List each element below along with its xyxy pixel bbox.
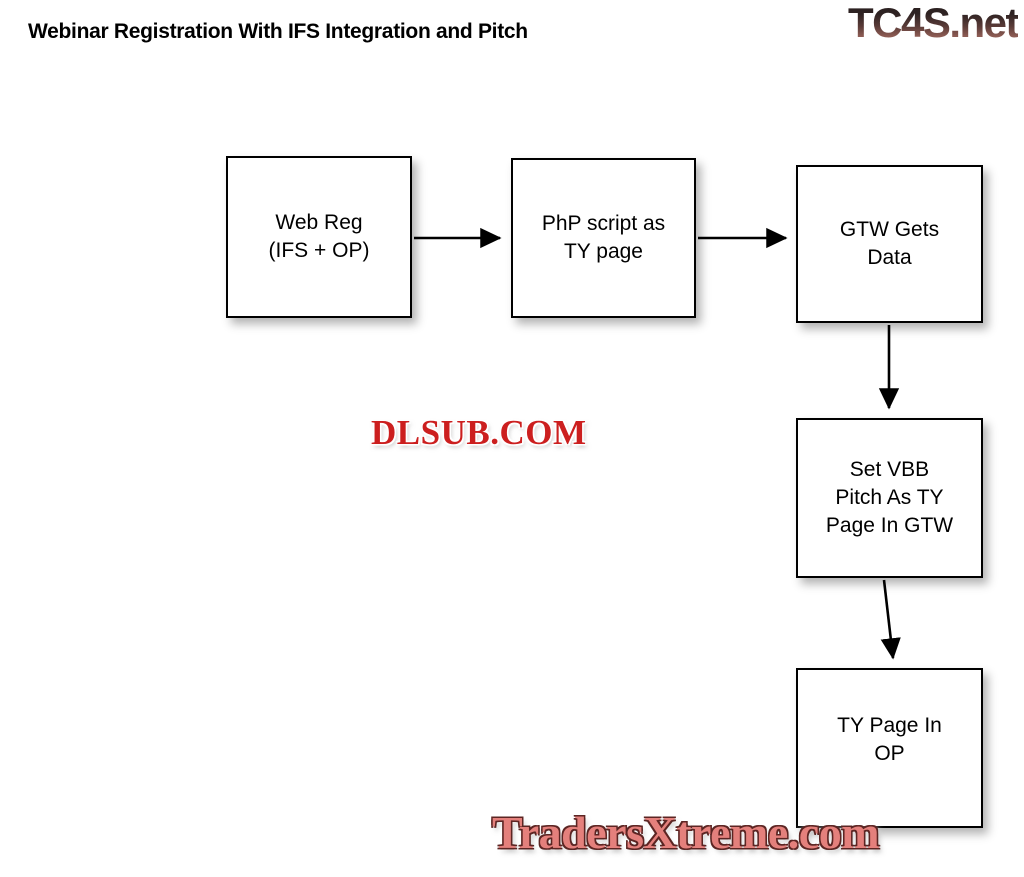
- flow-node-label: Set VBB Pitch As TY Page In GTW: [820, 456, 959, 539]
- flow-node-gtw-gets-data[interactable]: GTW Gets Data: [796, 165, 983, 323]
- flow-node-web-reg[interactable]: Web Reg (IFS + OP): [226, 156, 412, 318]
- flow-node-label: TY Page In OP: [831, 712, 948, 767]
- flow-node-label: PhP script as TY page: [536, 210, 671, 265]
- page-title: Webinar Registration With IFS Integratio…: [28, 20, 528, 44]
- diagram-canvas: Webinar Registration With IFS Integratio…: [0, 0, 1024, 877]
- watermark-dlsub: DLSUB.COM: [371, 413, 587, 453]
- watermark-tradersxtreme: TradersXtreme.com: [492, 806, 879, 859]
- tc4s-brand-logo: TC4S.net: [848, 2, 1018, 44]
- flow-node-php-script[interactable]: PhP script as TY page: [511, 158, 696, 318]
- flow-node-label: Web Reg (IFS + OP): [263, 209, 376, 264]
- flow-node-ty-page-in-op[interactable]: TY Page In OP: [796, 668, 983, 828]
- flow-node-set-vbb-pitch[interactable]: Set VBB Pitch As TY Page In GTW: [796, 418, 983, 578]
- flow-node-label: GTW Gets Data: [834, 216, 945, 271]
- edge-vbb-to-ty: [884, 580, 893, 658]
